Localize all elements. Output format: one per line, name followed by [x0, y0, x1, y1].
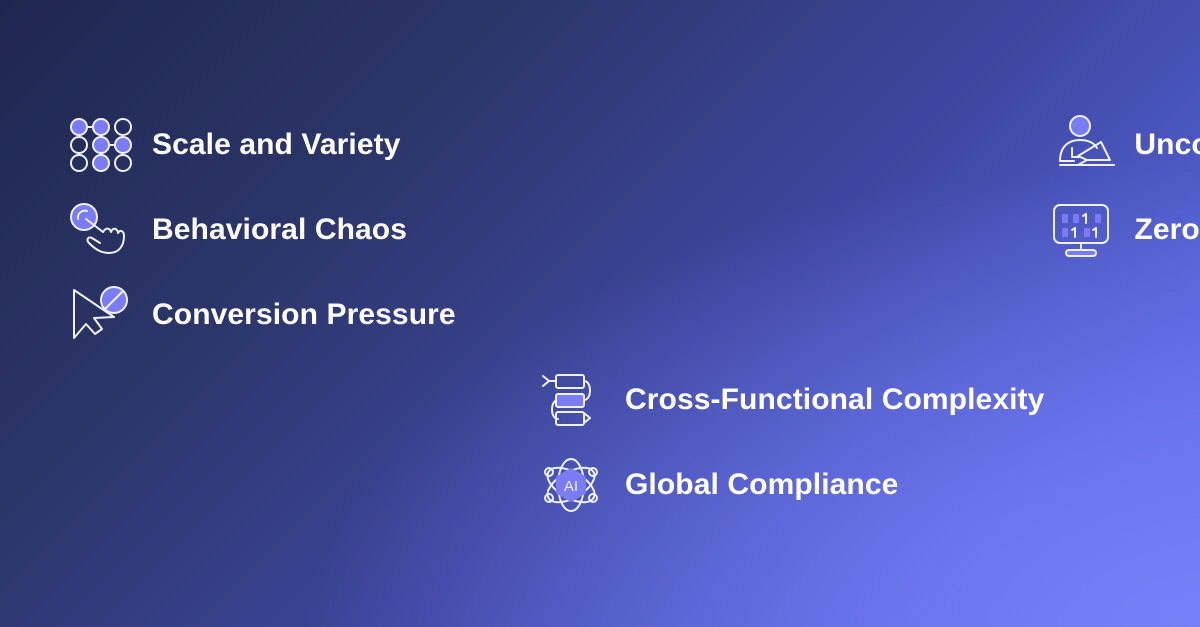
serpentine-flow-icon [535, 369, 607, 431]
hand-tap-icon [62, 199, 134, 261]
list-item-label: Zero IT Support [1134, 215, 1200, 245]
atom-ai-icon: AI [535, 454, 607, 516]
list-item-label: Cross-Functional Complexity [625, 385, 1044, 415]
list-item-global-compliance[interactable]: AI Global Compliance [62, 442, 1044, 527]
list-item-label: Scale and Variety [152, 130, 401, 160]
challenges-grid: Scale and Variety Uncontrolled Environme [0, 0, 1200, 627]
list-item-cross-functional-complexity[interactable]: Cross-Functional Complexity [62, 357, 1044, 442]
list-item-legacy-limitations[interactable]: Legacy Limitations [1044, 357, 1200, 442]
list-item-sky-high-expectations[interactable]: Sky-High Expectations [1044, 442, 1200, 527]
list-item-ever-evolving-fraud[interactable]: Ever-Evolving Fraud [1044, 272, 1200, 357]
list-item-scale-and-variety[interactable]: Scale and Variety [62, 102, 1044, 187]
person-laptop-icon [1044, 114, 1116, 176]
monitor-binary-icon [1044, 199, 1116, 261]
list-item-label: Global Compliance [625, 470, 898, 500]
list-item-zero-it-support[interactable]: Zero IT Support [1044, 187, 1200, 272]
cursor-blocked-icon [62, 284, 134, 346]
list-item-conversion-pressure[interactable]: Conversion Pressure [62, 272, 1044, 357]
network-nodes-icon [62, 114, 134, 176]
svg-text:AI: AI [564, 478, 578, 495]
list-item-label: Conversion Pressure [152, 300, 456, 330]
list-item-uncontrolled-environments[interactable]: Uncontrolled Environments [1044, 102, 1200, 187]
list-item-label: Uncontrolled Environments [1134, 130, 1200, 160]
list-item-behavioral-chaos[interactable]: Behavioral Chaos [62, 187, 1044, 272]
list-item-label: Behavioral Chaos [152, 215, 407, 245]
